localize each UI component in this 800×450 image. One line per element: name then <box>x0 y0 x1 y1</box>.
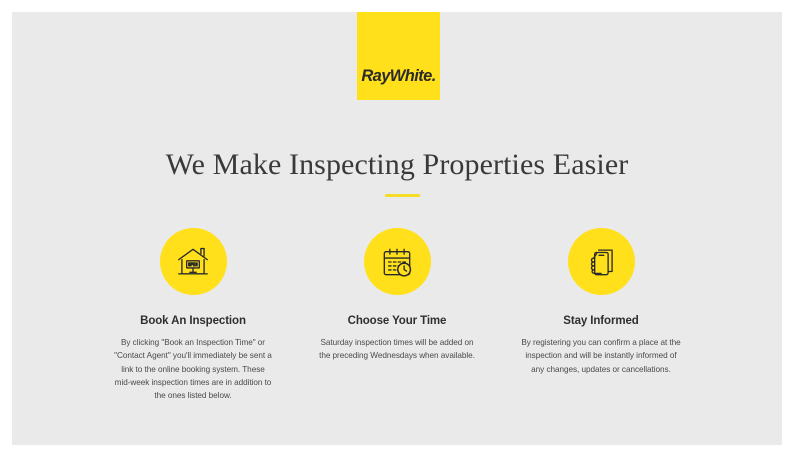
page-root: RayWhite. We Make Inspecting Properties … <box>0 0 800 450</box>
feature-title: Book An Inspection <box>140 315 246 327</box>
feature-body: Saturday inspection times will be added … <box>317 336 477 363</box>
raywhite-logo-block[interactable]: RayWhite. <box>357 12 440 100</box>
feature-body: By registering you can confirm a place a… <box>521 336 681 376</box>
feature-column-stay-informed: Stay Informed By registering you can con… <box>521 228 681 376</box>
feature-body: By clicking "Book an Inspection Time" or… <box>113 336 273 402</box>
accent-divider <box>385 194 420 197</box>
feature-title: Stay Informed <box>563 315 638 327</box>
raywhite-logo-text: RayWhite. <box>361 67 435 86</box>
feature-column-book-an-inspection: Book An Inspection By clicking "Book an … <box>113 228 273 402</box>
hand-holding-phone-icon <box>568 228 635 295</box>
calendar-clock-icon <box>364 228 431 295</box>
house-open-sign-icon <box>160 228 227 295</box>
content-panel: RayWhite. We Make Inspecting Properties … <box>12 12 782 445</box>
feature-column-choose-your-time: Choose Your Time Saturday inspection tim… <box>317 228 477 363</box>
feature-title: Choose Your Time <box>348 315 447 327</box>
feature-columns: Book An Inspection By clicking "Book an … <box>12 228 782 402</box>
page-title: We Make Inspecting Properties Easier <box>12 148 782 182</box>
